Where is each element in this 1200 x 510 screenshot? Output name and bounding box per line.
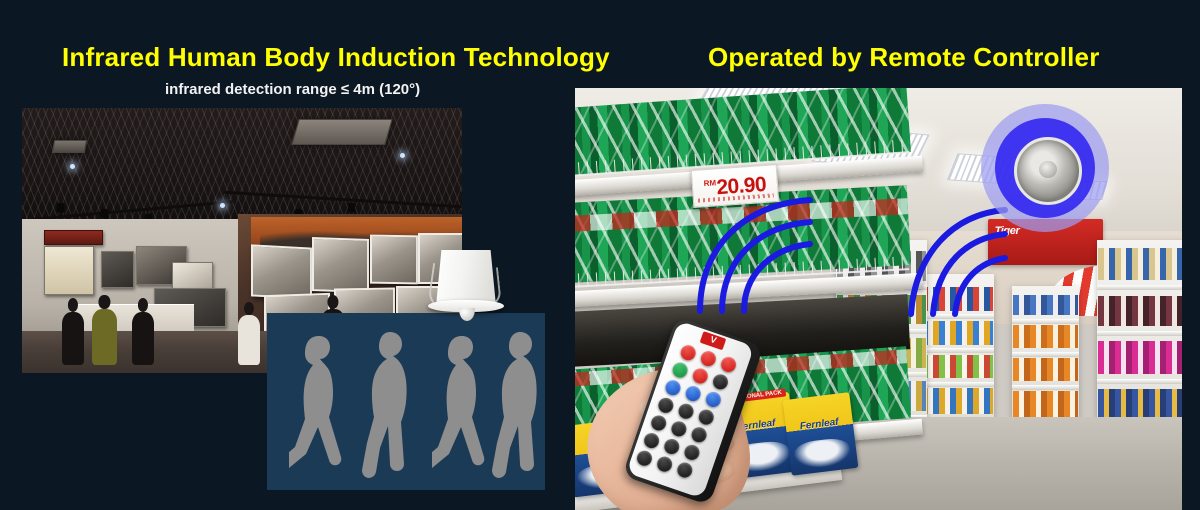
remote-button-preset-6[interactable]	[690, 425, 709, 444]
shelf-goods	[1013, 325, 1078, 348]
shelf-board	[1097, 285, 1182, 290]
shelf-goods	[1098, 248, 1182, 281]
ceiling-sensor-device	[1014, 137, 1082, 205]
shelf-goods	[1013, 358, 1078, 381]
remote-button-on[interactable]	[671, 361, 690, 380]
exhibit-scroll	[44, 246, 94, 296]
visitor-figure	[238, 315, 260, 365]
shelf-goods	[922, 388, 993, 413]
remote-button-preset-2[interactable]	[677, 402, 696, 421]
shelf-goods	[922, 355, 993, 379]
price-currency: RM	[703, 178, 716, 188]
shelf-goods	[922, 287, 993, 311]
remote-button-preset-8[interactable]	[662, 437, 681, 456]
remote-button-preset-1[interactable]	[656, 396, 675, 415]
walking-person-silhouette	[289, 334, 351, 482]
ceiling-grid	[22, 108, 462, 225]
shelf-goods	[1013, 391, 1078, 417]
left-section-heading: Infrared Human Body Induction Technology	[62, 42, 610, 73]
shelf-board	[1097, 379, 1182, 384]
spotlight-icon	[101, 209, 108, 218]
exhibit-frame	[101, 251, 134, 287]
shelf-goods	[1098, 296, 1182, 326]
shelf-board	[1012, 385, 1079, 390]
remote-button-mode[interactable]	[699, 349, 718, 368]
shelf-board	[1012, 319, 1079, 324]
left-section-subtitle: infrared detection range ≤ 4m (120°)	[165, 81, 420, 98]
shelf-board	[1097, 331, 1182, 336]
shelf-board	[921, 382, 994, 387]
ceiling-vent-icon	[291, 119, 393, 145]
supermarket-aisle-photo: Tiger	[575, 88, 1182, 510]
remote-button-off[interactable]	[691, 366, 710, 385]
mural-photo-tile	[312, 237, 369, 293]
walking-person-silhouette	[492, 330, 545, 482]
remote-button-timer[interactable]	[719, 355, 738, 374]
visitor-figure	[92, 309, 116, 365]
visitor-figure	[62, 312, 84, 365]
shelf-board	[921, 348, 994, 353]
remote-button-preset-11[interactable]	[655, 455, 674, 474]
detection-range-panel	[267, 313, 545, 490]
remote-button-preset-7[interactable]	[642, 431, 661, 450]
walking-person-silhouette	[432, 334, 494, 482]
ceiling-sensor-highlight	[981, 104, 1109, 232]
remote-button-preset-4[interactable]	[649, 413, 668, 432]
remote-button-preset-3[interactable]	[697, 408, 716, 427]
remote-button-preset-9[interactable]	[682, 443, 701, 462]
spotlight-icon	[57, 203, 64, 212]
right-section-heading: Operated by Remote Controller	[708, 42, 1100, 73]
mural-photo-tile	[251, 244, 312, 299]
shelf-board	[921, 314, 994, 319]
visitor-figure	[132, 312, 154, 365]
remote-button-down[interactable]	[684, 384, 703, 403]
remote-button-preset-12[interactable]	[675, 461, 694, 480]
spotlight-icon	[348, 203, 355, 212]
shelf-board	[1012, 352, 1079, 357]
slide-canvas: Infrared Human Body Induction Technology…	[0, 0, 1200, 510]
exhibit-title-plate	[44, 230, 103, 245]
remote-button-up[interactable]	[663, 378, 682, 397]
sensor-lens-dome	[459, 308, 475, 321]
hand-holding-remote: V	[577, 320, 792, 510]
white-ceiling-pir-sensor	[428, 250, 504, 324]
remote-button-auto[interactable]	[704, 390, 723, 409]
ceiling-vent-icon	[52, 140, 87, 153]
shelf-price-tag: RM 20.90	[691, 164, 779, 208]
shelf-goods	[1098, 341, 1182, 374]
remote-button-power[interactable]	[679, 343, 698, 362]
shelf-goods	[1013, 295, 1078, 315]
fernleaf-brand-label: Fernleaf	[788, 415, 850, 433]
remote-button-preset-5[interactable]	[669, 419, 688, 438]
back-gondola-shelf	[1012, 286, 1079, 429]
remote-button-preset-10[interactable]	[635, 449, 654, 468]
shelf-goods	[922, 321, 993, 345]
fernleaf-pack: Fernleaf	[783, 392, 859, 476]
walking-person-silhouette	[362, 330, 422, 482]
remote-button-set[interactable]	[711, 372, 730, 391]
mural-photo-tile	[370, 235, 418, 285]
pack-milk-graphic	[794, 437, 853, 471]
